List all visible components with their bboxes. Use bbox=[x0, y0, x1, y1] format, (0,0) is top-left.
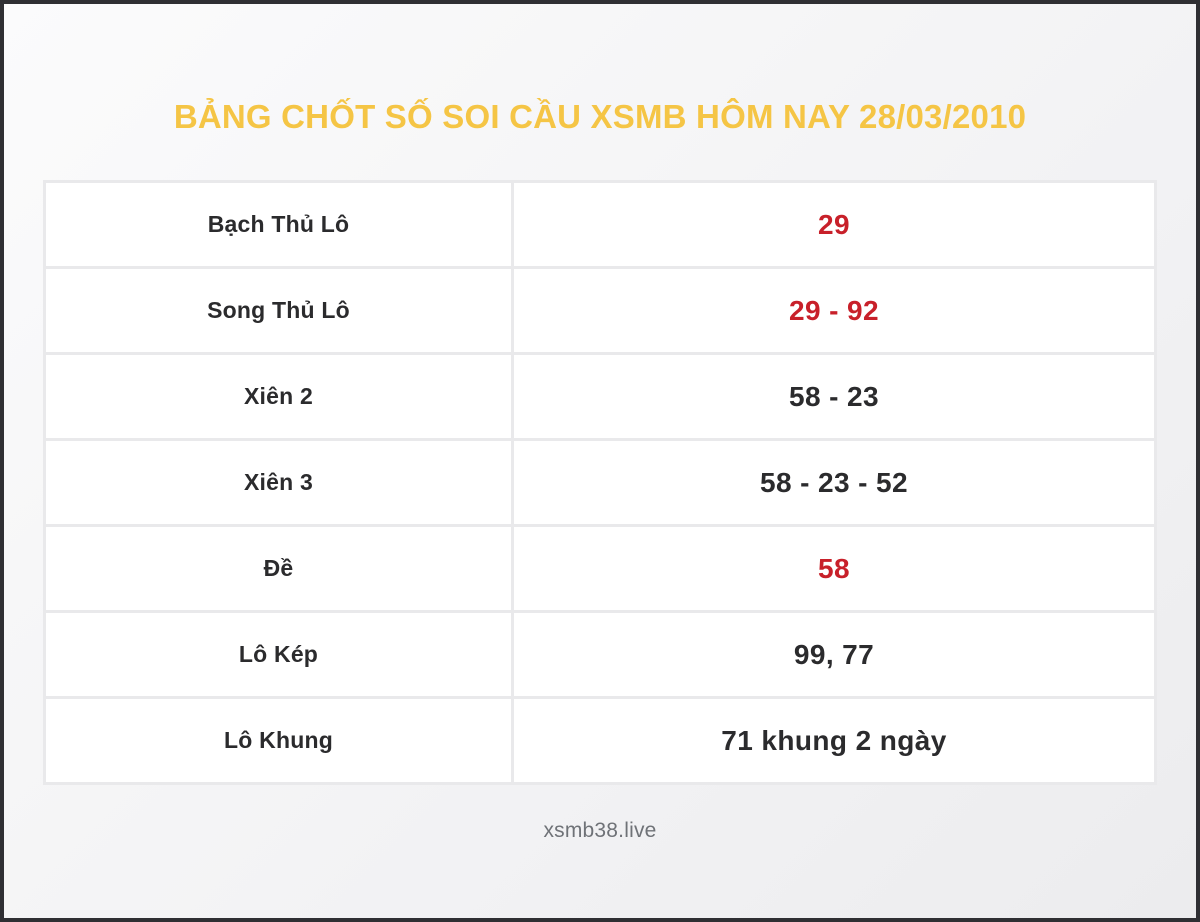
table-row: Lô Kép 99, 77 bbox=[45, 612, 1156, 698]
row-value: 29 - 92 bbox=[513, 268, 1156, 354]
row-label: Xiên 3 bbox=[45, 440, 513, 526]
prediction-table: Bạch Thủ Lô 29 Song Thủ Lô 29 - 92 Xiên … bbox=[43, 180, 1157, 785]
row-label: Đề bbox=[45, 526, 513, 612]
table-row: Bạch Thủ Lô 29 bbox=[45, 182, 1156, 268]
page-title: BẢNG CHỐT SỐ SOI CẦU XSMB HÔM NAY 28/03/… bbox=[174, 100, 1026, 133]
row-value: 58 - 23 bbox=[513, 354, 1156, 440]
row-label: Lô Kép bbox=[45, 612, 513, 698]
row-value: 58 - 23 - 52 bbox=[513, 440, 1156, 526]
table-row: Xiên 3 58 - 23 - 52 bbox=[45, 440, 1156, 526]
table-row: Song Thủ Lô 29 - 92 bbox=[45, 268, 1156, 354]
prediction-table-body: Bạch Thủ Lô 29 Song Thủ Lô 29 - 92 Xiên … bbox=[45, 182, 1156, 784]
table-row: Xiên 2 58 - 23 bbox=[45, 354, 1156, 440]
site-watermark: xsmb38.live bbox=[543, 819, 656, 843]
row-value: 29 bbox=[513, 182, 1156, 268]
row-label: Song Thủ Lô bbox=[45, 268, 513, 354]
row-label: Lô Khung bbox=[45, 698, 513, 784]
row-value: 71 khung 2 ngày bbox=[513, 698, 1156, 784]
table-row: Lô Khung 71 khung 2 ngày bbox=[45, 698, 1156, 784]
row-label: Xiên 2 bbox=[45, 354, 513, 440]
table-row: Đề 58 bbox=[45, 526, 1156, 612]
poster-canvas: BẢNG CHỐT SỐ SOI CẦU XSMB HÔM NAY 28/03/… bbox=[4, 4, 1196, 918]
row-label: Bạch Thủ Lô bbox=[45, 182, 513, 268]
row-value: 58 bbox=[513, 526, 1156, 612]
row-value: 99, 77 bbox=[513, 612, 1156, 698]
